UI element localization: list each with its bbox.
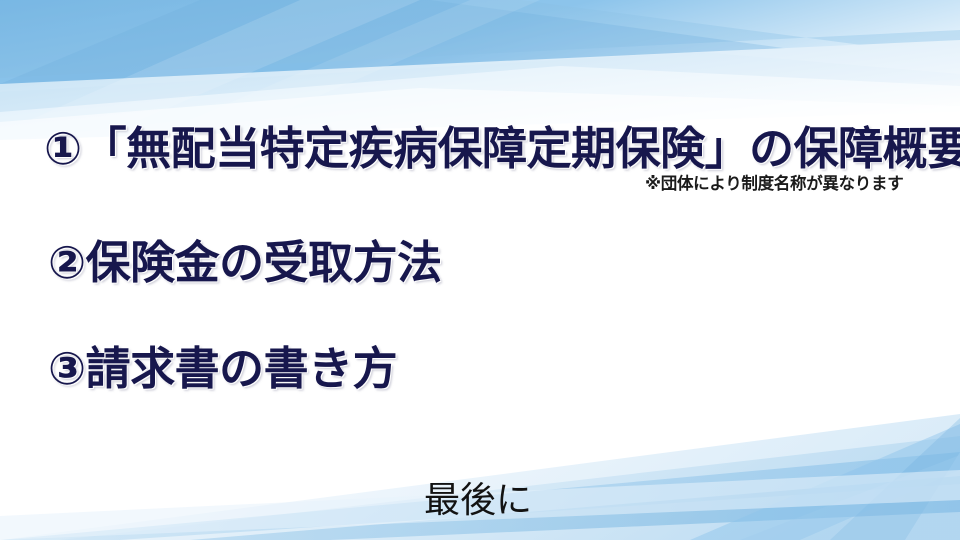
agenda-item-2: ②保険金の受取方法 (48, 226, 442, 291)
agenda-item-3: ③請求書の書き方 (48, 332, 397, 397)
agenda-content: ①「無配当特定疾病保障定期保険」の保障概要 ※団体により制度名称が異なります ②… (0, 0, 960, 540)
slide-canvas: ①「無配当特定疾病保障定期保険」の保障概要 ※団体により制度名称が異なります ②… (0, 0, 960, 540)
agenda-item-1-footnote: ※団体により制度名称が異なります (645, 170, 903, 194)
agenda-item-1: ①「無配当特定疾病保障定期保険」の保障概要 (44, 112, 960, 177)
closing-label: 最後に (424, 471, 532, 523)
